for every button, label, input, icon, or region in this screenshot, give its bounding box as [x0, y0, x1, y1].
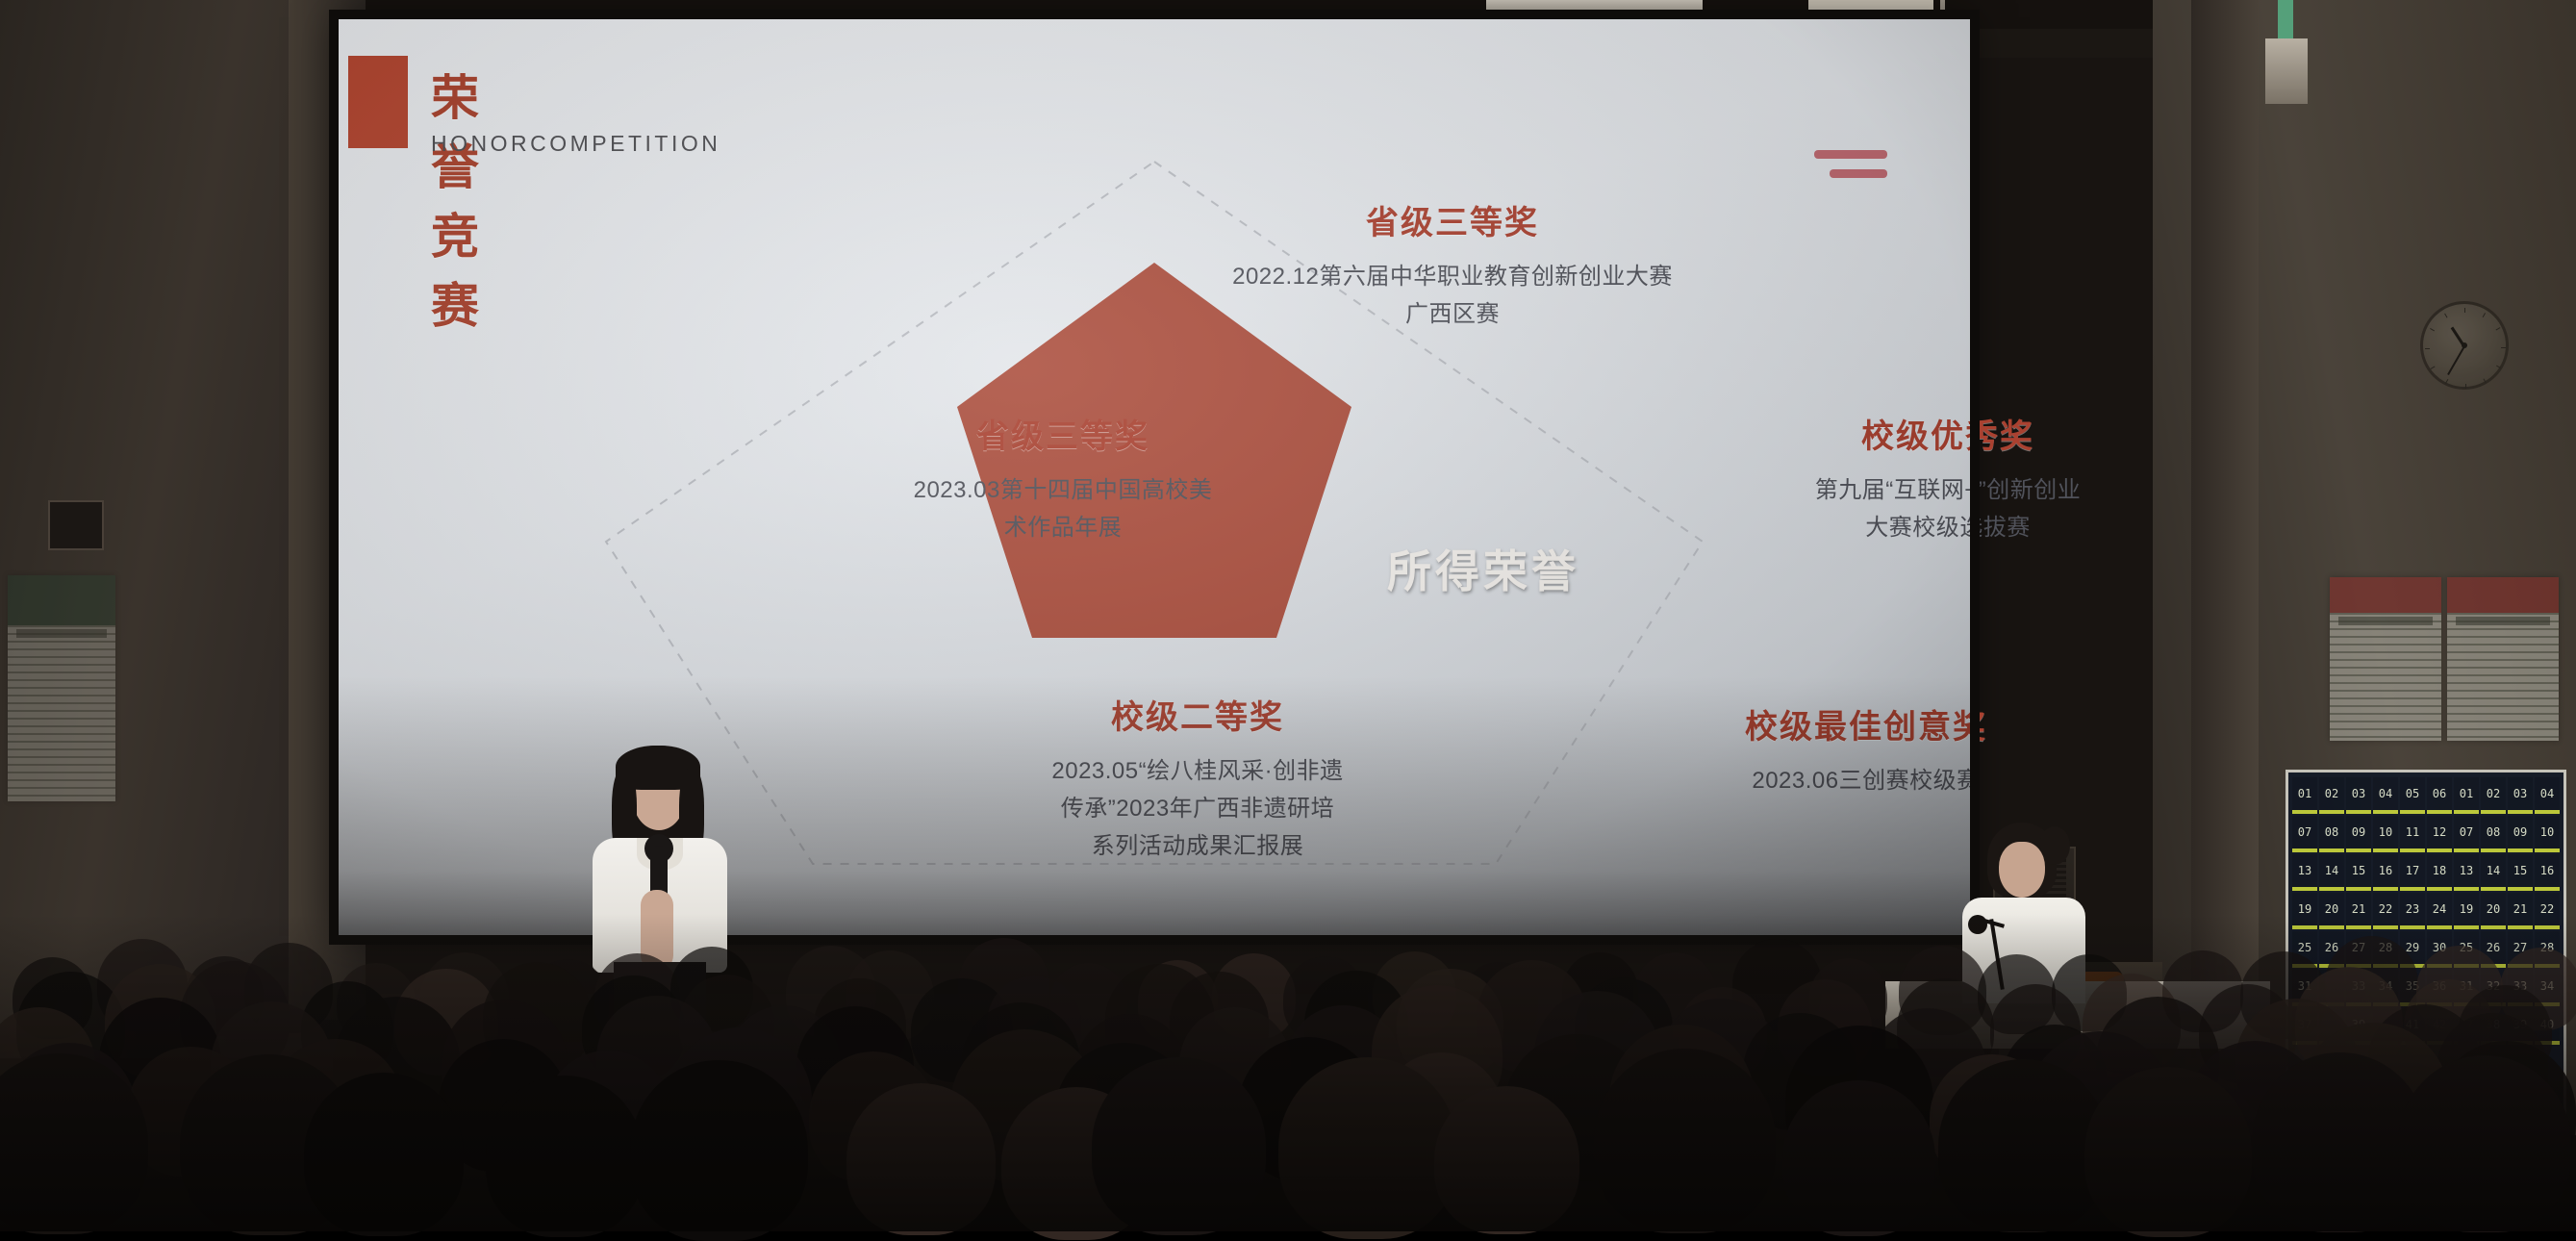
audience-member: [786, 946, 876, 1038]
pocket-slot[interactable]: 34: [2373, 970, 2398, 1006]
pocket-slot[interactable]: 15: [2346, 854, 2371, 891]
poster-header: [8, 575, 115, 625]
lecture-hall-room: 0102030405060102030407080910111207080910…: [0, 0, 2576, 1231]
pocket-slot[interactable]: 26: [2319, 931, 2344, 968]
clock-tick: [2496, 327, 2501, 330]
audience-member: [1460, 962, 1538, 1042]
audience-member: [950, 1029, 1100, 1182]
audience-member: [1633, 952, 1716, 1037]
audience-member: [668, 1027, 812, 1175]
audience-member: [1434, 1086, 1579, 1234]
audience-member: [1660, 999, 1780, 1121]
audience-member: [1372, 985, 1503, 1119]
audience-member: [1285, 1005, 1402, 1125]
audience-member: [420, 952, 509, 1043]
audience-member: [1373, 951, 1456, 1036]
audience-member: [1304, 971, 1408, 1076]
audience-member: [267, 1039, 405, 1179]
pocket-slot[interactable]: 11: [2400, 816, 2425, 852]
pocket-slot[interactable]: 42: [2427, 1008, 2452, 1045]
clock-tick: [2496, 366, 2501, 368]
pocket-slot[interactable]: 25: [2454, 931, 2479, 968]
pocket-slot[interactable]: 27: [2346, 931, 2371, 968]
pocket-slot[interactable]: 22: [2373, 893, 2398, 929]
pocket-slot[interactable]: 05: [2400, 777, 2425, 814]
audience-member: [814, 978, 906, 1072]
audience-member: [1609, 1025, 1755, 1173]
pocket-slot[interactable]: 14: [2481, 854, 2506, 891]
pocket-slot[interactable]: 36: [2427, 970, 2452, 1006]
pocket-slot[interactable]: 28: [2535, 931, 2560, 968]
pocket-slot[interactable]: 39: [2508, 1008, 2533, 1045]
pocket-slot[interactable]: 20: [2319, 893, 2344, 929]
poster-title-line: [2456, 617, 2549, 625]
clock-tick: [2484, 379, 2487, 384]
pocket-slot[interactable]: 28: [2373, 931, 2398, 968]
audience-member: [1575, 977, 1673, 1077]
pocket-slot[interactable]: 10: [2535, 816, 2560, 852]
pocket-slot[interactable]: 35: [2400, 970, 2425, 1006]
audience-member: [1238, 1037, 1379, 1181]
pocket-slot[interactable]: 37: [2292, 1008, 2317, 1045]
clock-tick: [2465, 384, 2466, 389]
pocket-slot[interactable]: 04: [2535, 777, 2560, 814]
pocket-slot[interactable]: 14: [2319, 854, 2344, 891]
pocket-slot[interactable]: 41: [2400, 1008, 2425, 1045]
pocket-slot[interactable]: 01: [2454, 777, 2479, 814]
pocket-slot[interactable]: 31: [2292, 970, 2317, 1006]
pocket-slot[interactable]: 33: [2346, 970, 2371, 1006]
pocket-slot[interactable]: 27: [2508, 931, 2533, 968]
pocket-slot[interactable]: 09: [2346, 816, 2371, 852]
clock-tick: [2483, 313, 2486, 317]
pocket-slot[interactable]: 38: [2319, 1008, 2344, 1045]
audience-member: [0, 1053, 148, 1234]
audience-member: [987, 975, 1080, 1071]
pocket-slot[interactable]: 08: [2481, 816, 2506, 852]
audience-member: [439, 1039, 568, 1172]
wall-poster-right-1: [2330, 577, 2441, 741]
pocket-slot[interactable]: 13: [2292, 854, 2317, 891]
pocket-slot[interactable]: 21: [2346, 893, 2371, 929]
right-wall-column: [2191, 0, 2259, 1058]
audience-member: [1732, 939, 1822, 1030]
audience-member: [796, 1006, 914, 1126]
audience-member: [846, 950, 934, 1041]
standing-presenter: [587, 746, 731, 996]
pocket-slot[interactable]: 24: [2427, 893, 2452, 929]
audience-member: [483, 962, 592, 1073]
audience-member: [180, 1054, 358, 1236]
audience-member: [1212, 953, 1296, 1039]
audience-member: [1049, 963, 1127, 1042]
audience-member: [1, 1043, 137, 1181]
left-wall-electrical-box: [48, 500, 104, 550]
pocket-slot[interactable]: 31: [2454, 970, 2479, 1006]
pocket-slot[interactable]: 16: [2535, 854, 2560, 891]
pocket-slot[interactable]: 17: [2400, 854, 2425, 891]
poster-header: [2447, 577, 2559, 613]
clock-minute-hand: [2447, 346, 2465, 375]
pocket-slot[interactable]: 34: [2535, 970, 2560, 1006]
pocket-slot[interactable]: 25: [2292, 931, 2317, 968]
pocket-slot[interactable]: 32: [2481, 970, 2506, 1006]
audience-member: [1594, 1049, 1775, 1233]
presenter-skirt: [614, 962, 706, 1020]
pocket-slot[interactable]: 13: [2454, 854, 2479, 891]
poster-body-text: [8, 625, 115, 801]
pocket-slot[interactable]: 18: [2427, 854, 2452, 891]
pocket-slot[interactable]: 20: [2481, 893, 2506, 929]
clock-tick: [2430, 328, 2435, 331]
wall-clock: [2420, 301, 2509, 390]
poster-title-line: [16, 629, 107, 638]
pocket-slot[interactable]: 04: [2373, 777, 2398, 814]
pocket-slot[interactable]: 12: [2427, 816, 2452, 852]
clock-tick: [2425, 348, 2430, 349]
clock-tick: [2445, 379, 2448, 384]
pocket-slot[interactable]: 03: [2346, 777, 2371, 814]
audience-member: [1504, 1034, 1649, 1181]
pocket-slot[interactable]: 02: [2319, 777, 2344, 814]
audience-member: [1283, 956, 1368, 1043]
panelist-face: [1999, 842, 2045, 898]
audience-member: [1562, 952, 1638, 1030]
audience-member: [1679, 987, 1768, 1078]
pocket-slot[interactable]: 01: [2292, 777, 2317, 814]
wall-poster-left: [8, 575, 115, 801]
gooseneck-mic-head-icon: [1968, 915, 1987, 934]
pocket-slot[interactable]: 30: [2427, 931, 2452, 968]
pocket-slot[interactable]: 38: [2481, 1008, 2506, 1045]
poster-body-text: [2447, 613, 2559, 741]
phone-storage-pocket-chart[interactable]: 0102030405060102030407080910111207080910…: [2286, 770, 2566, 1154]
pocket-slot[interactable]: 29: [2400, 931, 2425, 968]
pocket-slot[interactable]: 33: [2508, 970, 2533, 1006]
pocket-slot[interactable]: 22: [2535, 893, 2560, 929]
audience-member: [727, 1005, 841, 1121]
audience-member: [1809, 958, 1887, 1038]
audience-member: [304, 1073, 464, 1236]
audience-member: [1179, 1007, 1291, 1121]
clock-tick: [2464, 308, 2465, 313]
clock-tick: [2431, 367, 2436, 369]
audience-member: [630, 1060, 807, 1241]
presenter-arm: [641, 890, 673, 971]
pocket-slot[interactable]: 21: [2508, 893, 2533, 929]
audience-member: [442, 1000, 568, 1128]
pocket-slot[interactable]: 40: [2373, 1008, 2398, 1045]
audience-member: [1782, 1080, 1935, 1236]
pocket-slot[interactable]: 02: [2481, 777, 2506, 814]
audience-member: [962, 1002, 1080, 1123]
clock-center-pin: [2462, 342, 2467, 348]
poster-body-text: [2330, 613, 2441, 741]
audience-member: [1074, 1014, 1187, 1128]
audience-member: [958, 938, 1050, 1031]
audience-member: [1001, 1087, 1151, 1240]
pocket-slot[interactable]: 07: [2454, 816, 2479, 852]
audience-member: [1105, 964, 1215, 1076]
audience-member: [1055, 1043, 1194, 1183]
pocket-slot[interactable]: 23: [2400, 893, 2425, 929]
poster-header: [2330, 577, 2441, 613]
pocket-slot[interactable]: 09: [2508, 816, 2533, 852]
pocket-slot[interactable]: 10: [2373, 816, 2398, 852]
clock-tick: [2501, 347, 2506, 348]
audience-member: [394, 969, 499, 1076]
audience-member: [846, 1083, 997, 1236]
pocket-slot[interactable]: 07: [2292, 816, 2317, 852]
pocket-slot[interactable]: 03: [2508, 777, 2533, 814]
pocket-slot[interactable]: 19: [2292, 893, 2317, 929]
audience-member: [486, 1076, 644, 1236]
pocket-slot[interactable]: 37: [2454, 1008, 2479, 1045]
pocket-slot[interactable]: 40: [2535, 1008, 2560, 1045]
wall-mounted-sensor: [2265, 38, 2308, 104]
projection-screen-frame: [329, 10, 1980, 945]
audience-member: [1138, 960, 1219, 1042]
seated-panelist: [1953, 823, 2097, 1015]
poster-title-line: [2338, 617, 2432, 625]
pocket-slot[interactable]: 15: [2508, 854, 2533, 891]
audience-member: [1170, 972, 1269, 1073]
audience-member: [127, 1047, 255, 1178]
audience-member: [543, 1051, 671, 1181]
audience-member: [1092, 1057, 1267, 1235]
pocket-slot[interactable]: 32: [2319, 970, 2344, 1006]
audience-member: [911, 978, 1013, 1082]
audience-member: [1778, 979, 1872, 1076]
pocket-slot[interactable]: 08: [2319, 816, 2344, 852]
audience-member: [1278, 1057, 1457, 1240]
audience-member: [1477, 960, 1587, 1073]
wall-poster-right-2: [2447, 577, 2559, 741]
audience-member: [1379, 1052, 1503, 1179]
clock-tick: [2444, 314, 2447, 318]
audience-member: [1743, 1013, 1857, 1130]
pocket-slot[interactable]: 19: [2454, 893, 2479, 929]
pocket-slot[interactable]: 39: [2346, 1008, 2371, 1045]
panelist-shirt: [1962, 898, 2085, 1003]
pocket-slot[interactable]: 16: [2373, 854, 2398, 891]
audience-member: [1534, 991, 1661, 1120]
pocket-slot[interactable]: 26: [2481, 931, 2506, 968]
audience-member: [809, 1051, 938, 1183]
pocket-slot[interactable]: 06: [2427, 777, 2452, 814]
audience-member: [1397, 969, 1504, 1078]
